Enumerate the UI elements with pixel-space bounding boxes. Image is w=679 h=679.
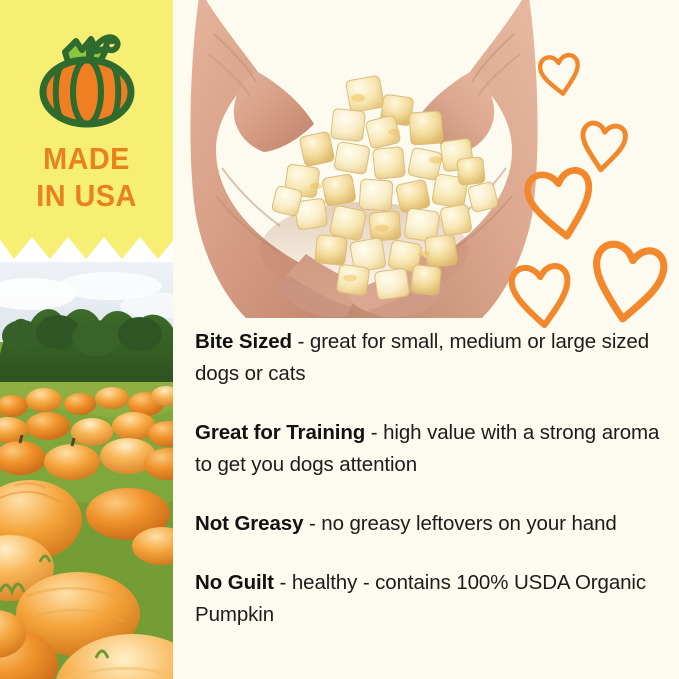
feature-label: Bite Sized (195, 330, 292, 353)
pumpkin-patch-photo (0, 262, 173, 679)
feature-list: Bite Sized - great for small, medium or … (195, 326, 661, 631)
pumpkin-icon (35, 22, 139, 128)
left-column: MADE IN USA (0, 0, 173, 679)
zigzag-divider (0, 237, 173, 262)
feature-bite-sized: Bite Sized - great for small, medium or … (195, 326, 661, 390)
heart-icon-2 (579, 122, 626, 172)
feature-not-greasy: Not Greasy - no greasy leftovers on your… (195, 508, 661, 540)
feature-label: Not Greasy (195, 512, 303, 535)
heart-icon-4 (589, 242, 666, 323)
feature-label: Great for Training (195, 421, 365, 444)
feature-great-for-training: Great for Training - high value with a s… (195, 417, 661, 481)
feature-label: No Guilt (195, 571, 274, 594)
product-infographic: MADE IN USA (0, 0, 679, 679)
made-in-usa-badge: MADE IN USA (0, 0, 173, 262)
heart-decorations (505, 25, 679, 325)
heart-icon-3 (525, 167, 597, 242)
hands-holding-pumpkin-treats-photo (186, 0, 542, 318)
heart-icon-1 (539, 53, 582, 96)
feature-no-guilt: No Guilt - healthy - contains 100% USDA … (195, 567, 661, 631)
made-in-usa-label: MADE IN USA (6, 140, 167, 214)
feature-description: - no greasy leftovers on your hand (303, 512, 616, 535)
heart-icon-5 (510, 264, 572, 328)
badge-line-2: IN USA (6, 177, 167, 214)
badge-line-1: MADE (43, 141, 130, 176)
